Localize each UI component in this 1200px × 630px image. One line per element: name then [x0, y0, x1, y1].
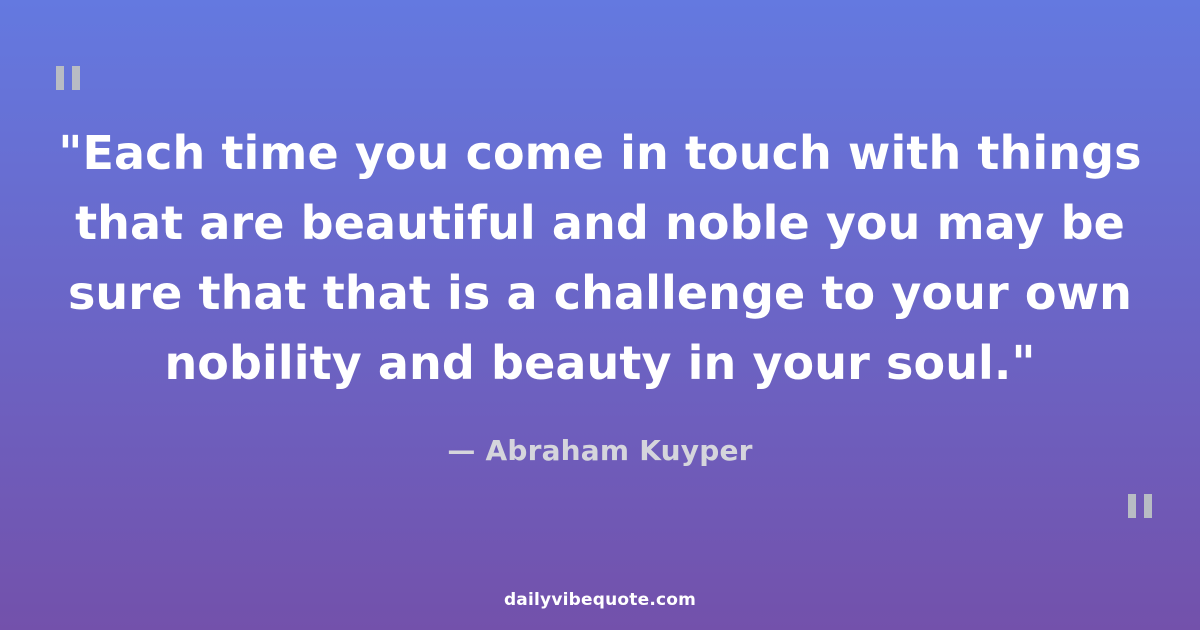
- quote-mark-open-icon: [56, 66, 80, 90]
- quote-attribution: — Abraham Kuyper: [0, 434, 1200, 467]
- quote-bar-right: [72, 66, 80, 90]
- quote-mark-close-icon: [1128, 494, 1152, 518]
- quote-bar-right: [1144, 494, 1152, 518]
- quote-text: "Each time you come in touch with things…: [0, 118, 1200, 398]
- quote-bar-left: [56, 66, 64, 90]
- quote-card: "Each time you come in touch with things…: [0, 0, 1200, 630]
- site-footer-label: dailyvibequote.com: [0, 590, 1200, 610]
- quote-bar-left: [1128, 494, 1136, 518]
